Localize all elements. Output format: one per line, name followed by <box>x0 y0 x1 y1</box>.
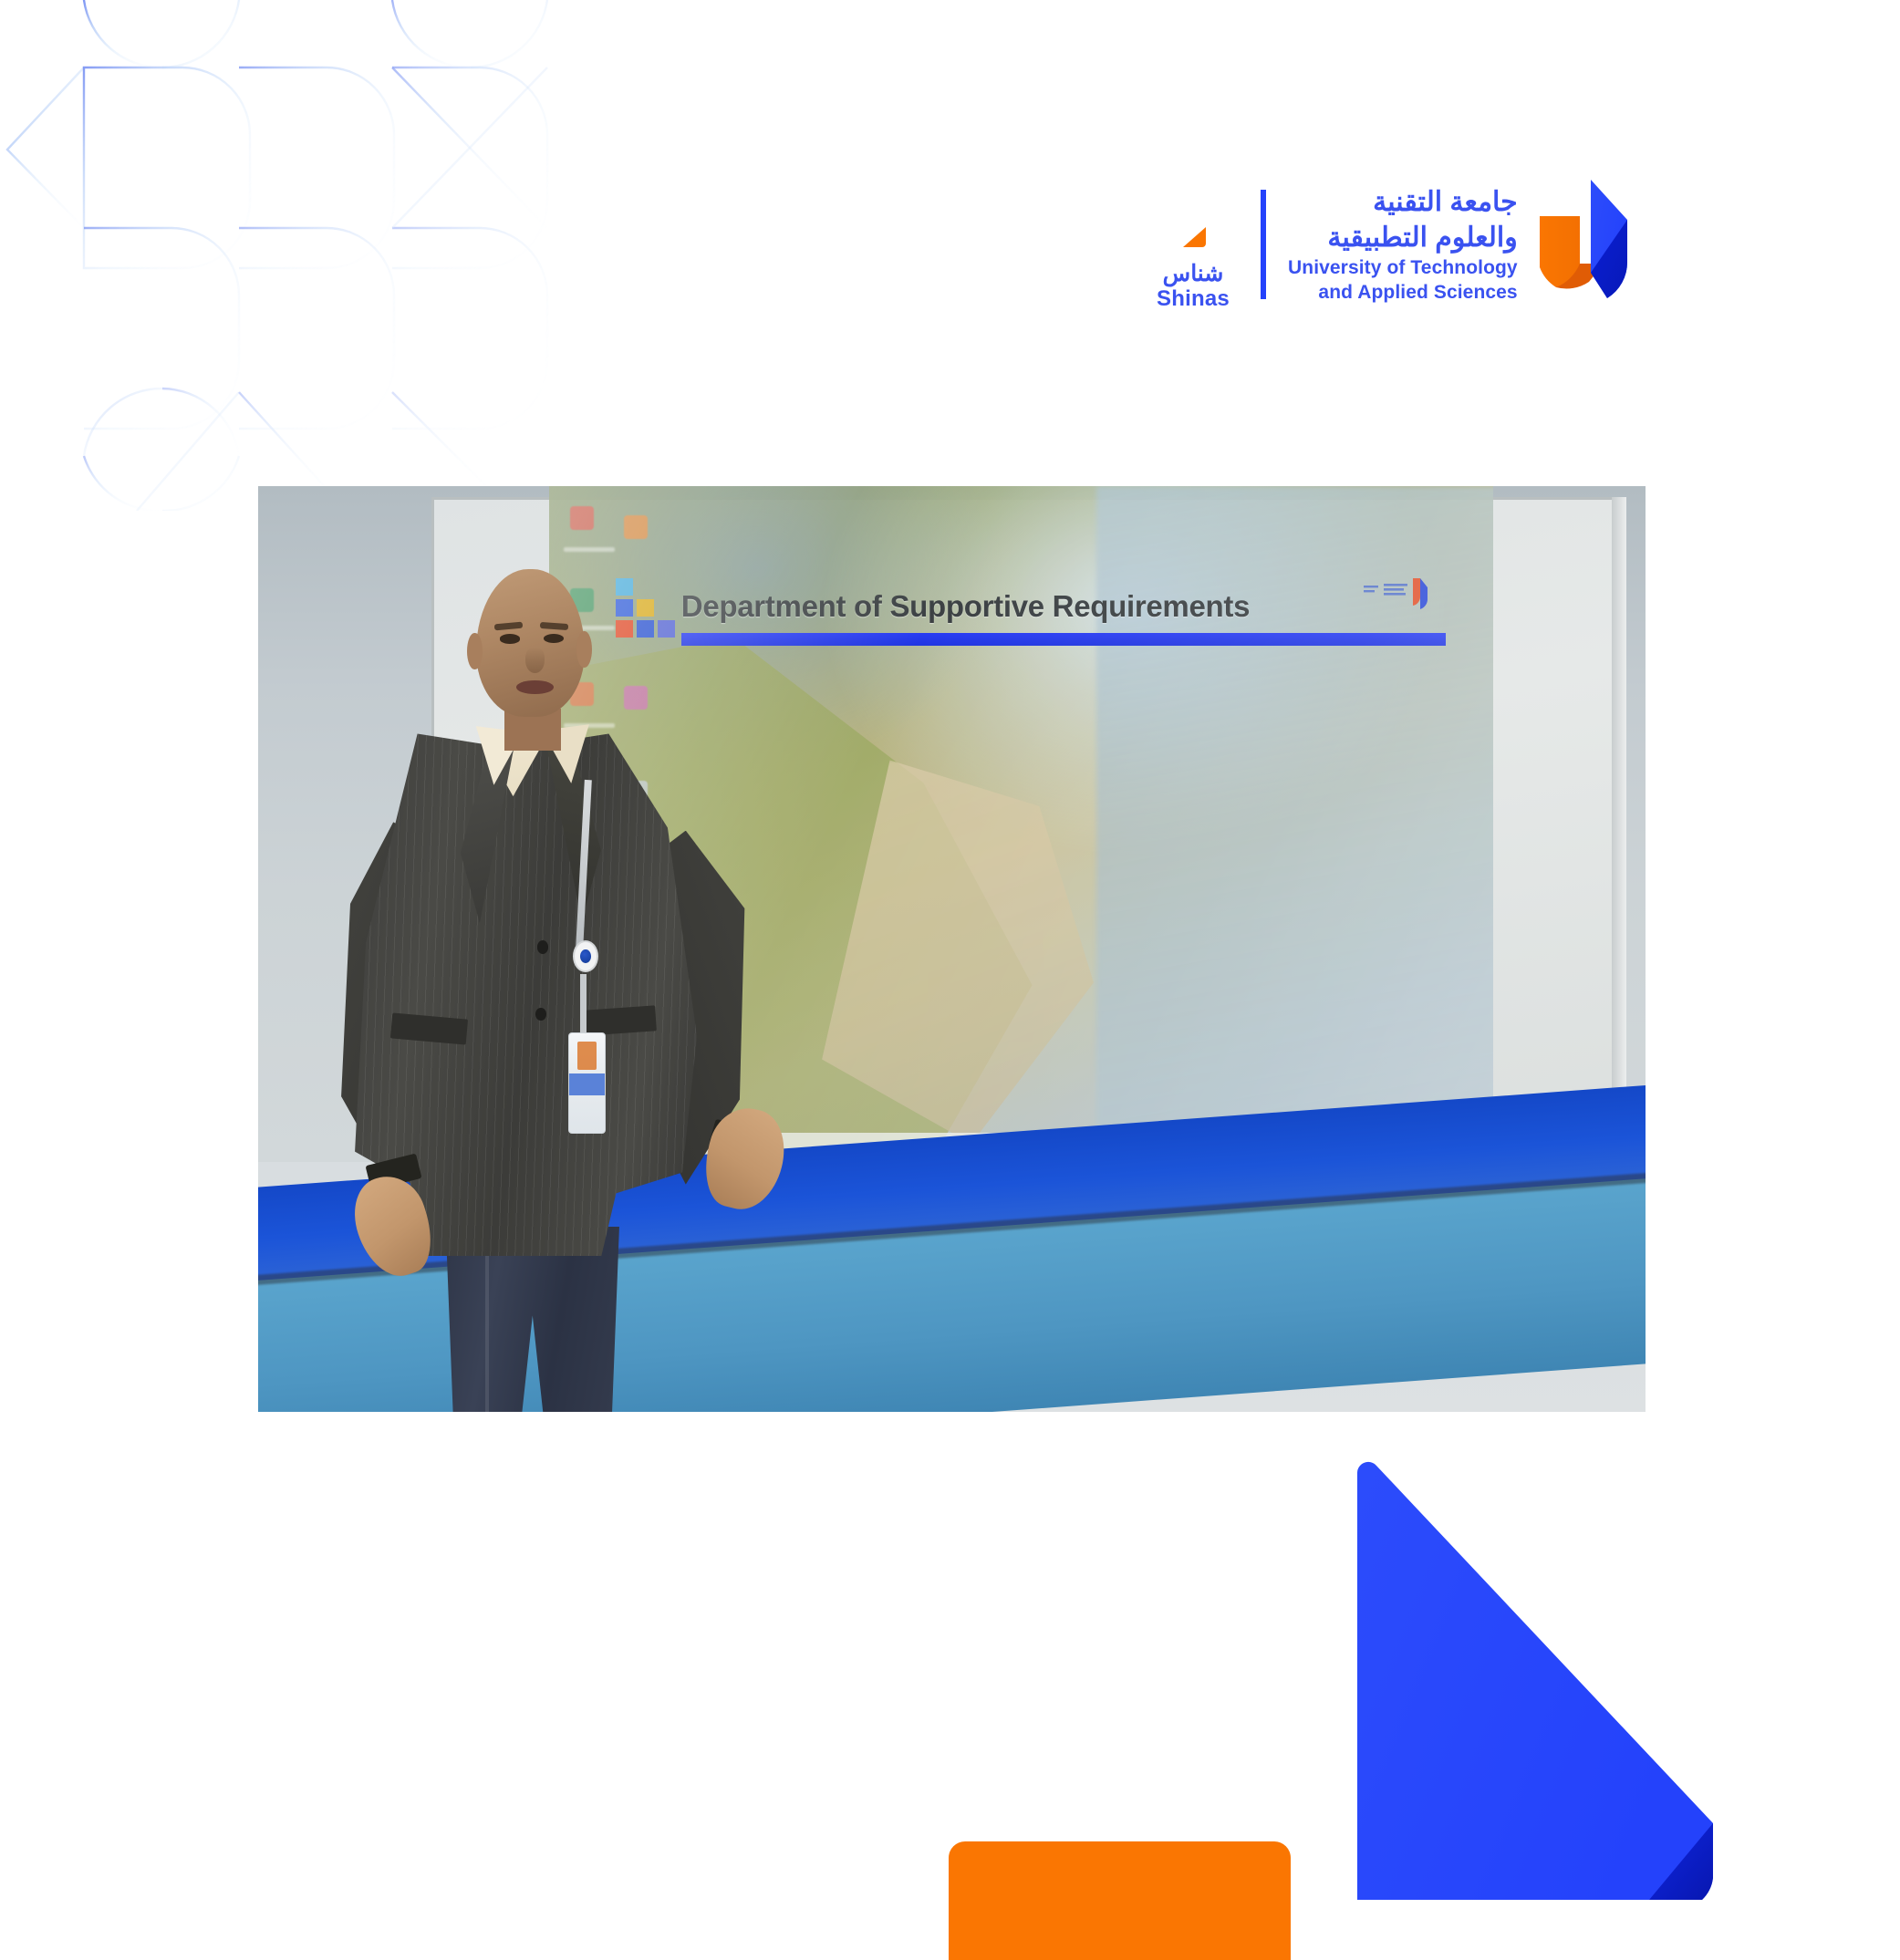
badge-clip <box>580 974 587 1033</box>
presenter-right-ear <box>576 631 592 669</box>
presenter-head <box>476 569 585 717</box>
university-name-arabic-line1: جامعة التقنية <box>1373 184 1518 220</box>
presenter-left-eye <box>500 634 521 643</box>
presenter-left-ear <box>467 633 483 670</box>
university-name-english-line2: and Applied Sciences <box>1318 280 1517 305</box>
presenter-in-classroom-photo: Department of Supportive Requirements Se… <box>258 486 1646 1412</box>
presenter-mouth <box>516 680 554 694</box>
badge-color-strip <box>569 1073 605 1095</box>
blue-chevron-wedge-decoration <box>1348 1457 1749 1900</box>
presenter-nose <box>525 648 545 673</box>
orange-wedge-icon <box>1178 225 1208 249</box>
id-badge <box>568 1032 606 1134</box>
badge-reel <box>573 940 598 972</box>
shinas-campus-block: شناس Shinas <box>1142 176 1244 313</box>
university-name-block: جامعة التقنية والعلوم التطبيقية Universi… <box>1288 176 1518 313</box>
jacket-right-pocket <box>584 1005 656 1035</box>
presenter-right-eye <box>544 634 565 643</box>
presenter-figure <box>335 569 806 1412</box>
shinas-name-arabic: شناس <box>1163 262 1224 285</box>
vertical-divider-icon <box>1261 190 1266 299</box>
badge-logo-mark <box>577 1042 596 1069</box>
trouser-crease <box>485 1243 489 1412</box>
utas-shield-logo-mark-icon <box>1538 178 1631 311</box>
shinas-name-english: Shinas <box>1157 285 1230 313</box>
orange-rounded-rect-decoration <box>949 1841 1291 1960</box>
jacket-button <box>537 940 548 954</box>
university-name-english-line1: University of Technology <box>1288 255 1518 280</box>
utas-shinas-logo-lockup: شناس Shinas جامعة التقنية والعلوم التطبي… <box>1142 153 1662 336</box>
islamic-geometric-pattern <box>0 0 584 511</box>
university-name-arabic-line2: والعلوم التطبيقية <box>1327 220 1517 255</box>
